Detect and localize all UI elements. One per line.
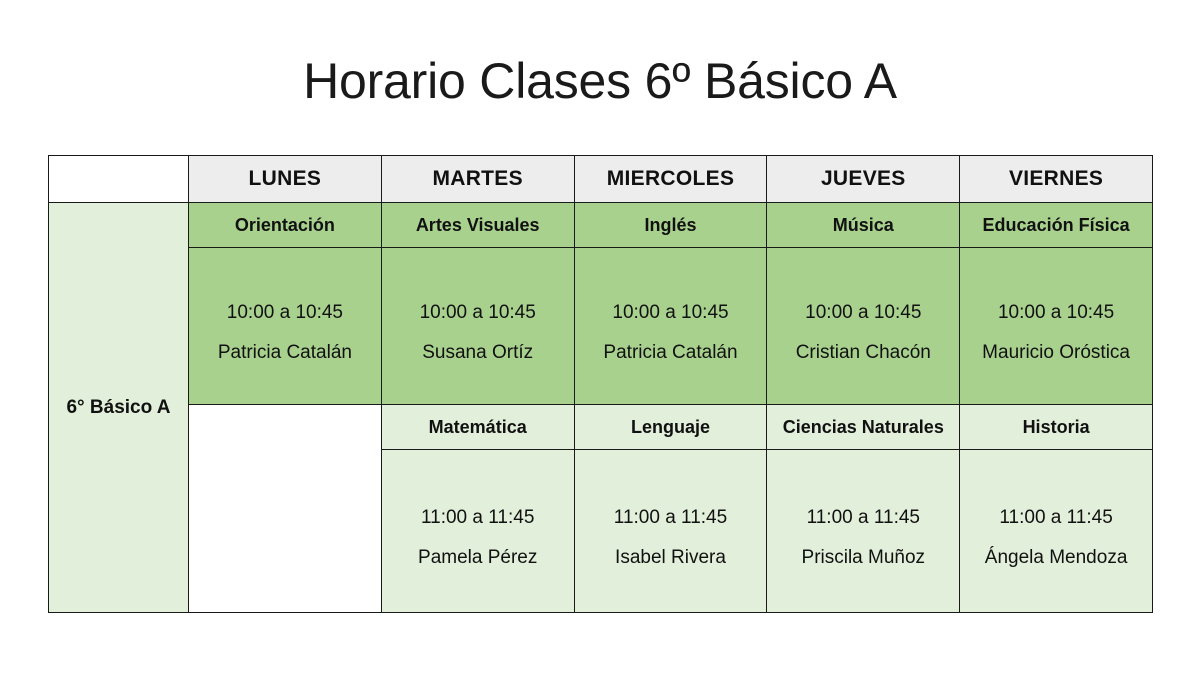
schedule-table-container: LUNES MARTES MIERCOLES JUEVES VIERNES 6°… <box>48 155 1152 613</box>
day-header-lunes: LUNES <box>189 156 382 203</box>
day-header-viernes: VIERNES <box>960 156 1153 203</box>
teacher-label: Priscila Muñoz <box>767 545 959 571</box>
page-title: Horario Clases 6º Básico A <box>0 52 1200 110</box>
detail-inner: 11:00 a 11:45 Isabel Rivera <box>575 491 767 570</box>
detail-inner: 11:00 a 11:45 Pamela Pérez <box>382 491 574 570</box>
subject-cell-jueves-block-2[interactable]: Ciencias Naturales <box>767 405 960 450</box>
empty-cell-lunes-block-2[interactable] <box>189 405 382 613</box>
time-label: 10:00 a 10:45 <box>612 302 728 323</box>
time-label: 11:00 a 11:45 <box>999 507 1112 528</box>
subject-cell-miercoles-block-2[interactable]: Lenguaje <box>574 405 767 450</box>
detail-cell-viernes-block-1[interactable]: 10:00 a 10:45 Mauricio Oróstica <box>960 248 1153 405</box>
teacher-label: Mauricio Oróstica <box>960 340 1152 366</box>
detail-cell-martes-block-1[interactable]: 10:00 a 10:45 Susana Ortíz <box>381 248 574 405</box>
time-label: 10:00 a 10:45 <box>420 302 536 323</box>
detail-inner: 10:00 a 10:45 Mauricio Oróstica <box>960 286 1152 365</box>
time-label: 11:00 a 11:45 <box>807 507 920 528</box>
subject-cell-lunes-block-1[interactable]: Orientación <box>189 203 382 248</box>
subject-cell-miercoles-block-1[interactable]: Inglés <box>574 203 767 248</box>
day-header-miercoles: MIERCOLES <box>574 156 767 203</box>
detail-inner: 10:00 a 10:45 Cristian Chacón <box>767 286 959 365</box>
teacher-label: Susana Ortíz <box>382 340 574 366</box>
subject-cell-viernes-block-1[interactable]: Educación Física <box>960 203 1153 248</box>
subject-cell-viernes-block-2[interactable]: Historia <box>960 405 1153 450</box>
block-2-subject-row: Matemática Lenguaje Ciencias Naturales H… <box>49 405 1153 450</box>
time-label: 10:00 a 10:45 <box>998 302 1114 323</box>
detail-cell-miercoles-block-1[interactable]: 10:00 a 10:45 Patricia Catalán <box>574 248 767 405</box>
detail-cell-jueves-block-1[interactable]: 10:00 a 10:45 Cristian Chacón <box>767 248 960 405</box>
detail-cell-viernes-block-2[interactable]: 11:00 a 11:45 Ángela Mendoza <box>960 450 1153 613</box>
detail-cell-miercoles-block-2[interactable]: 11:00 a 11:45 Isabel Rivera <box>574 450 767 613</box>
detail-cell-martes-block-2[interactable]: 11:00 a 11:45 Pamela Pérez <box>381 450 574 613</box>
time-label: 11:00 a 11:45 <box>421 507 534 528</box>
time-label: 10:00 a 10:45 <box>805 302 921 323</box>
subject-cell-martes-block-1[interactable]: Artes Visuales <box>381 203 574 248</box>
detail-inner: 10:00 a 10:45 Patricia Catalán <box>575 286 767 365</box>
day-header-martes: MARTES <box>381 156 574 203</box>
subject-cell-martes-block-2[interactable]: Matemática <box>381 405 574 450</box>
teacher-label: Isabel Rivera <box>575 545 767 571</box>
row-label-grade: 6° Básico A <box>49 203 189 613</box>
detail-inner: 11:00 a 11:45 Ángela Mendoza <box>960 491 1152 570</box>
header-row: LUNES MARTES MIERCOLES JUEVES VIERNES <box>49 156 1153 203</box>
day-header-jueves: JUEVES <box>767 156 960 203</box>
subject-cell-jueves-block-1[interactable]: Música <box>767 203 960 248</box>
teacher-label: Patricia Catalán <box>575 340 767 366</box>
teacher-label: Pamela Pérez <box>382 545 574 571</box>
detail-inner: 11:00 a 11:45 Priscila Muñoz <box>767 491 959 570</box>
schedule-table: LUNES MARTES MIERCOLES JUEVES VIERNES 6°… <box>48 155 1153 613</box>
header-corner-cell <box>49 156 189 203</box>
slide-canvas: Horario Clases 6º Básico A LUNES MARTES … <box>0 0 1200 675</box>
detail-inner: 10:00 a 10:45 Patricia Catalán <box>189 286 381 365</box>
detail-cell-jueves-block-2[interactable]: 11:00 a 11:45 Priscila Muñoz <box>767 450 960 613</box>
teacher-label: Patricia Catalán <box>189 340 381 366</box>
time-label: 11:00 a 11:45 <box>614 507 727 528</box>
teacher-label: Ángela Mendoza <box>960 545 1152 571</box>
detail-inner: 10:00 a 10:45 Susana Ortíz <box>382 286 574 365</box>
block-1-detail-row: 10:00 a 10:45 Patricia Catalán 10:00 a 1… <box>49 248 1153 405</box>
time-label: 10:00 a 10:45 <box>227 302 343 323</box>
detail-cell-lunes-block-1[interactable]: 10:00 a 10:45 Patricia Catalán <box>189 248 382 405</box>
teacher-label: Cristian Chacón <box>767 340 959 366</box>
block-1-subject-row: 6° Básico A Orientación Artes Visuales I… <box>49 203 1153 248</box>
